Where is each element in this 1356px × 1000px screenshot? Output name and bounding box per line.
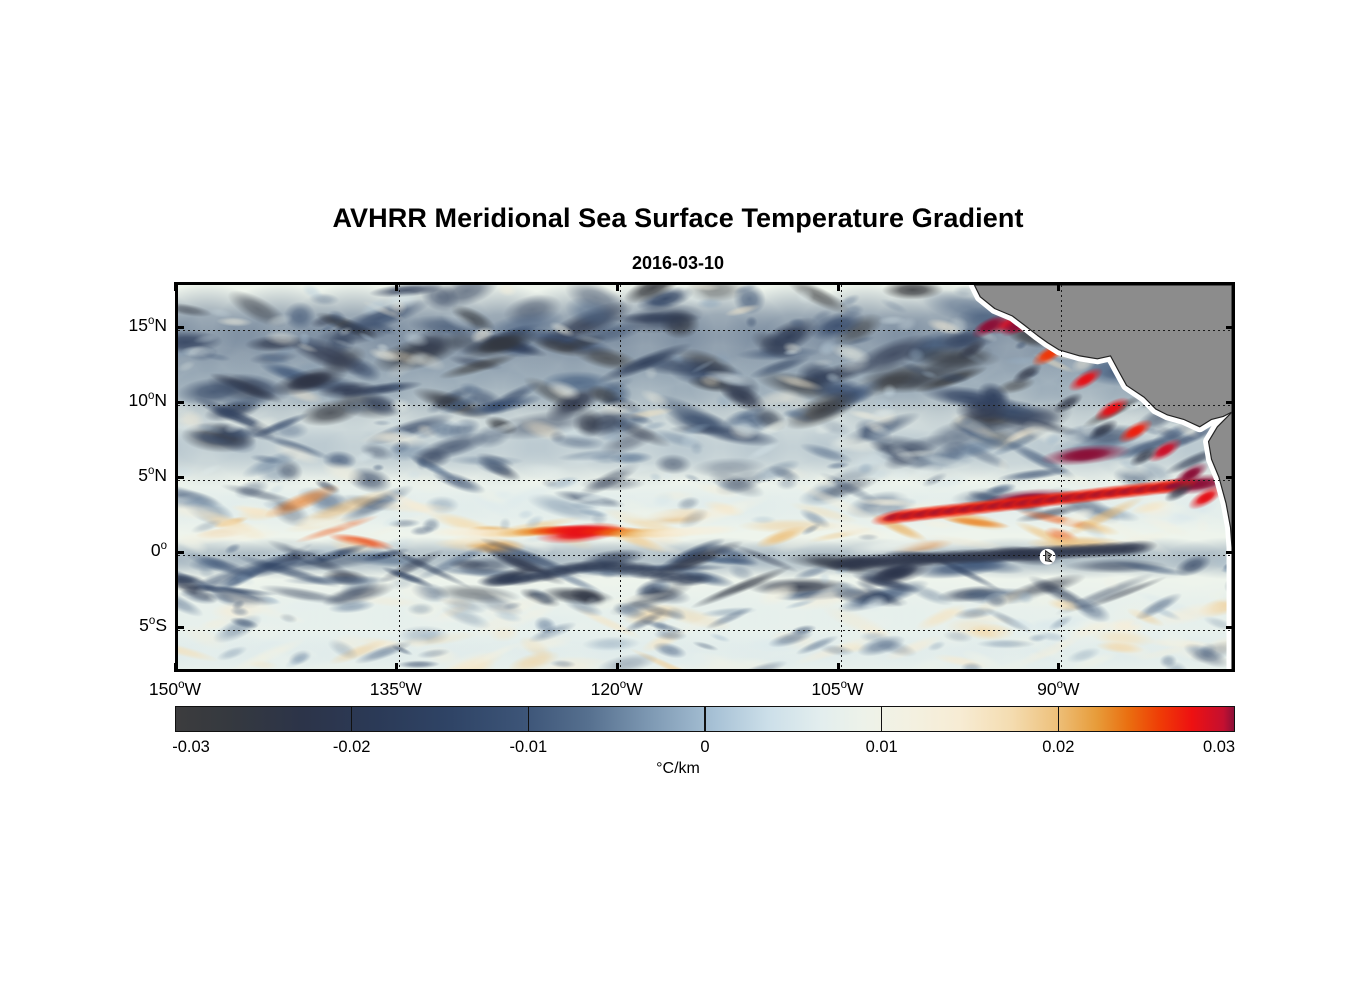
x-tick-label-0: 150oW — [149, 679, 201, 700]
tick-top — [395, 282, 398, 291]
tick-top — [616, 282, 619, 291]
tick-left — [175, 326, 184, 329]
colorbar-tick-label-1: -0.02 — [333, 738, 371, 757]
y-tick-hemisphere: N — [154, 465, 167, 485]
y-tick-value: 5 — [139, 615, 149, 635]
y-tick-label-1: 10oN — [128, 390, 167, 411]
x-tick-label-2: 120oW — [591, 679, 643, 700]
tick-right — [1226, 401, 1235, 404]
x-tick-hemisphere: W — [405, 679, 422, 699]
x-tick-hemisphere: W — [626, 679, 643, 699]
x-tick-value: 90 — [1037, 679, 1056, 699]
figure-root: AVHRR Meridional Sea Surface Temperature… — [0, 0, 1356, 1000]
degree-symbol: o — [161, 540, 167, 552]
tick-top — [174, 282, 177, 291]
colorbar-tick-label-6: 0.03 — [1203, 738, 1235, 757]
x-tick-label-4: 90oW — [1037, 679, 1079, 700]
y-tick-label-0: 15oN — [128, 315, 167, 336]
tick-bot — [1057, 663, 1060, 672]
colorbar-tick-label-5: 0.02 — [1042, 738, 1074, 757]
colorbar-tick-1 — [351, 706, 353, 732]
x-tick-label-1: 135oW — [370, 679, 422, 700]
x-tick-hemisphere: W — [847, 679, 864, 699]
y-tick-label-2: 5oN — [138, 465, 167, 486]
tick-top — [837, 282, 840, 291]
y-tick-value: 5 — [138, 465, 148, 485]
figure-title: AVHRR Meridional Sea Surface Temperature… — [0, 203, 1356, 234]
y-tick-hemisphere: S — [155, 615, 167, 635]
tick-left — [175, 551, 184, 554]
colorbar-tick-3 — [704, 706, 706, 732]
x-tick-hemisphere: W — [1063, 679, 1080, 699]
colorbar-tick-label-2: -0.01 — [510, 738, 548, 757]
colorbar-tick-4 — [881, 706, 883, 732]
tick-right — [1226, 626, 1235, 629]
tick-bot — [395, 663, 398, 672]
tick-left — [175, 476, 184, 479]
x-tick-value: 105 — [811, 679, 840, 699]
y-tick-value: 15 — [128, 315, 147, 335]
tick-right — [1226, 551, 1235, 554]
tick-bot — [174, 663, 177, 672]
x-tick-value: 120 — [591, 679, 620, 699]
colorbar-unit-label: °C/km — [0, 760, 1356, 778]
tick-top — [1057, 282, 1060, 291]
tick-bot — [616, 663, 619, 672]
colorbar-tick-label-4: 0.01 — [866, 738, 898, 757]
y-tick-value: 10 — [128, 390, 147, 410]
y-tick-value: 0 — [151, 540, 161, 560]
tick-right — [1226, 476, 1235, 479]
tick-left — [175, 626, 184, 629]
colorbar-tick-2 — [528, 706, 530, 732]
colorbar-tick-label-3: 0 — [700, 738, 709, 757]
map-axes — [175, 282, 1235, 672]
land-mask — [178, 285, 1232, 669]
x-tick-hemisphere: W — [185, 679, 202, 699]
tick-bot — [837, 663, 840, 672]
tick-left — [175, 401, 184, 404]
y-tick-hemisphere: N — [154, 315, 167, 335]
x-tick-value: 150 — [149, 679, 178, 699]
x-tick-value: 135 — [370, 679, 399, 699]
y-tick-label-4: 5oS — [139, 615, 167, 636]
colorbar-tick-5 — [1058, 706, 1060, 732]
y-tick-label-3: 0o — [151, 540, 167, 561]
y-tick-hemisphere: N — [154, 390, 167, 410]
x-tick-label-3: 105oW — [811, 679, 863, 700]
colorbar-tick-label-0: -0.03 — [172, 738, 210, 757]
figure-subtitle: 2016-03-10 — [0, 253, 1356, 274]
tick-right — [1226, 326, 1235, 329]
